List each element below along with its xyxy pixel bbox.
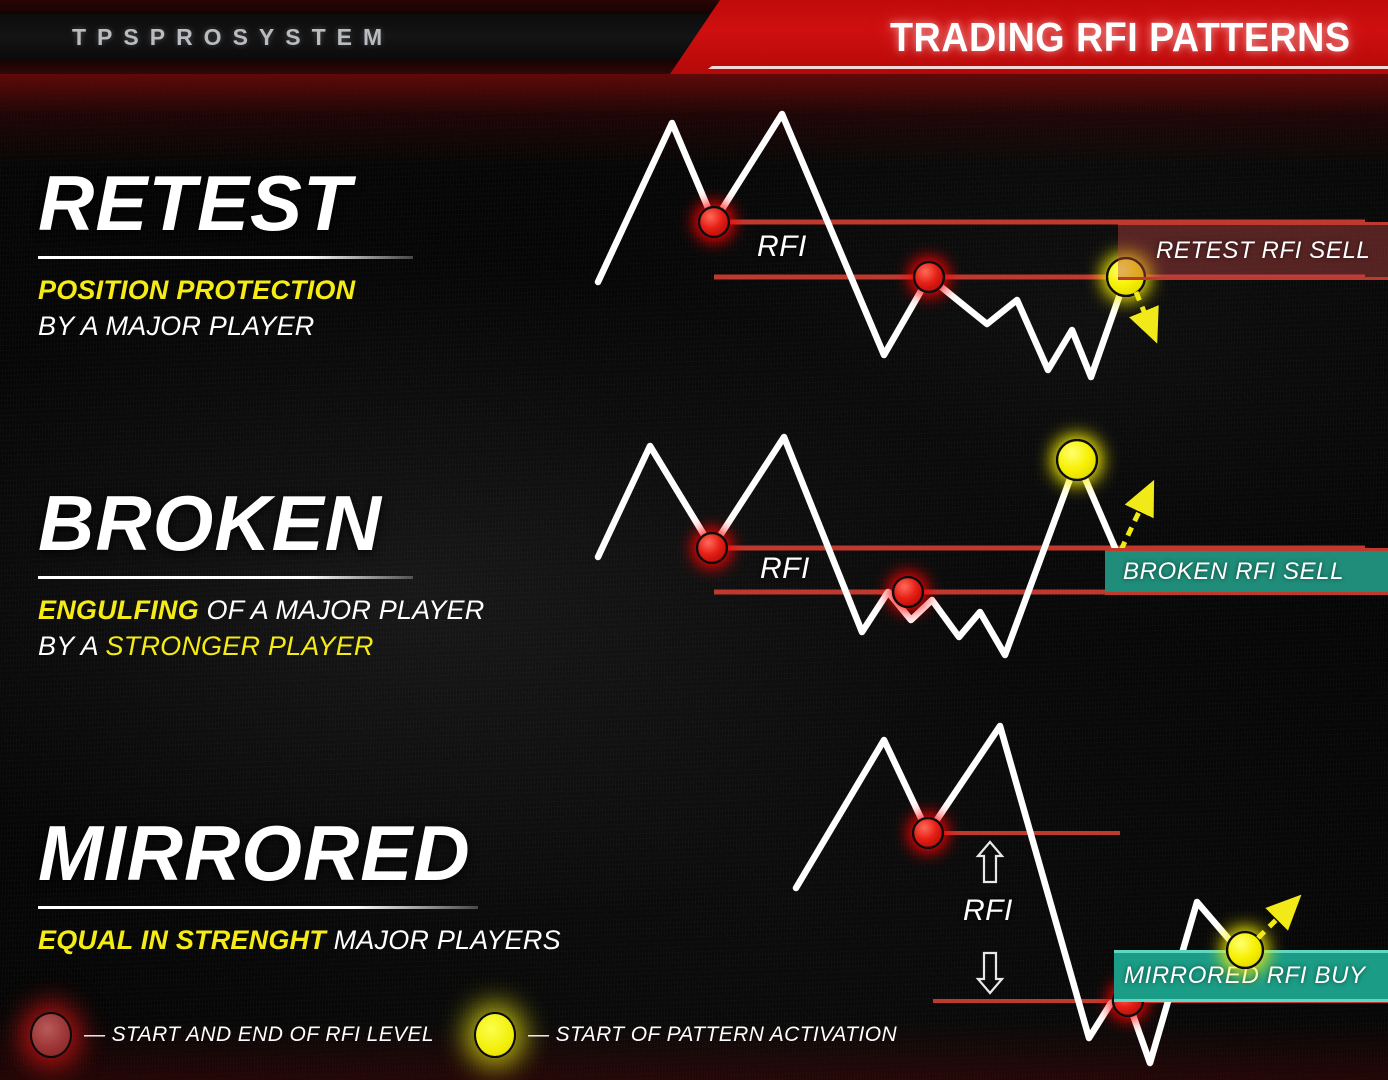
retest-rfi-end-marker — [914, 262, 944, 292]
broken-rfi-end-marker — [893, 577, 923, 607]
mirrored-rfi-text: RFI — [963, 894, 1013, 928]
broken-rfi-start-marker — [697, 533, 727, 563]
mirrored-tag-label: MIRRORED RFI BUY — [1124, 962, 1366, 990]
retest-rfi-start-marker — [699, 207, 729, 237]
pattern-charts-svg — [0, 0, 1388, 1080]
charts-layer — [0, 0, 1388, 1080]
retest-rfi-text: RFI — [757, 230, 807, 264]
legend-item-rfi-level: — START AND END OF RFI LEVEL — [30, 1012, 434, 1058]
broken-tag-fill: BROKEN RFI SELL — [1105, 551, 1388, 592]
retest-price-line — [598, 114, 1126, 377]
broken-tag-band: BROKEN RFI SELL — [1105, 548, 1388, 595]
retest-tag-band: RETEST RFI SELL — [1118, 222, 1388, 280]
legend-label-rfi-level: — START AND END OF RFI LEVEL — [84, 1023, 434, 1047]
retest-sell-arrow-icon — [1136, 292, 1150, 326]
broken-rfi-text: RFI — [760, 552, 810, 586]
mirrored-down-arrow-icon — [978, 953, 1002, 993]
legend-item-activation: — START OF PATTERN ACTIVATION — [474, 1012, 897, 1058]
red-dot-icon — [30, 1012, 72, 1058]
infographic-canvas: TPSPROSYSTEM TRADING RFI PATTERNS RETEST… — [0, 0, 1388, 1080]
legend-label-activation: — START OF PATTERN ACTIVATION — [528, 1023, 897, 1047]
broken-activation-marker — [1057, 440, 1097, 480]
broken-buy-arrow-icon — [1121, 497, 1146, 550]
mirrored-up-arrow-icon — [978, 842, 1002, 882]
broken-tag-label: BROKEN RFI SELL — [1123, 558, 1344, 586]
mirrored-rfi-start-marker — [913, 818, 943, 848]
retest-tag-label: RETEST RFI SELL — [1156, 237, 1370, 265]
mirrored-tag-band: MIRRORED RFI BUY — [1114, 950, 1388, 1002]
legend: — START AND END OF RFI LEVEL — START OF … — [30, 1012, 897, 1058]
yellow-dot-icon — [474, 1012, 516, 1058]
